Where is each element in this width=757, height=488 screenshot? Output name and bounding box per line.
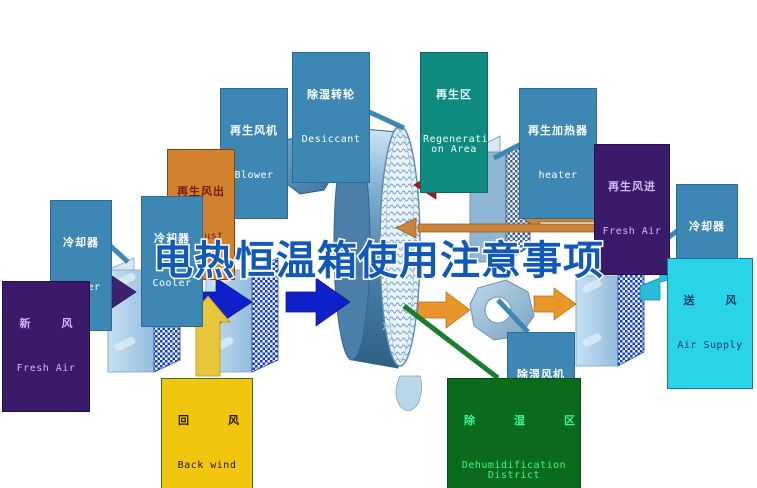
svg-text:xt: xt bbox=[382, 319, 395, 334]
label-regeneration-heater-en: heater bbox=[522, 171, 594, 182]
label-regeneration-area-cn: 再生区 bbox=[423, 90, 485, 102]
label-fresh-air-inlet[interactable]: 新 风 Fresh Air bbox=[2, 281, 90, 412]
label-fresh-air-inlet-cn: 新 风 bbox=[5, 319, 87, 331]
label-air-supply-cn: 送 风 bbox=[670, 296, 750, 308]
label-dehumidification-district-cn: 除 湿 区 bbox=[450, 416, 578, 428]
label-regeneration-heater-cn: 再生加热器 bbox=[522, 126, 594, 138]
label-regeneration-area[interactable]: 再生区 Regenerati on Area bbox=[420, 52, 488, 193]
label-regeneration-blower-cn: 再生风机 bbox=[223, 126, 285, 138]
label-regeneration-heater[interactable]: 再生加热器 heater bbox=[519, 88, 597, 219]
label-back-wind-en: Back wind bbox=[164, 461, 250, 472]
label-air-supply-en: Air Supply bbox=[670, 341, 750, 352]
label-regeneration-area-en: Regenerati on Area bbox=[423, 135, 485, 156]
label-desiccant-rotor-cn: 除湿转轮 bbox=[295, 90, 367, 102]
label-dehumidification-district-en: Dehumidification District bbox=[450, 461, 578, 482]
diagram-canvas: xt bbox=[0, 0, 757, 488]
blower-out-arrow bbox=[534, 288, 576, 320]
page-title-text: 电热恒温箱使用注意事项 bbox=[153, 238, 604, 284]
label-back-wind[interactable]: 回 风 Back wind bbox=[161, 378, 253, 488]
label-desiccant-rotor[interactable]: 除湿转轮 Desiccant bbox=[292, 52, 370, 183]
label-desiccant-rotor-en: Desiccant bbox=[295, 135, 367, 146]
page-title: 电热恒温箱使用注意事项 bbox=[0, 228, 757, 286]
label-regeneration-fresh-air-cn: 再生风进 bbox=[597, 182, 667, 194]
label-fresh-air-inlet-en: Fresh Air bbox=[5, 364, 87, 375]
label-dehumidification-district[interactable]: 除 湿 区 Dehumidification District bbox=[447, 378, 581, 488]
label-back-wind-cn: 回 风 bbox=[164, 416, 250, 428]
